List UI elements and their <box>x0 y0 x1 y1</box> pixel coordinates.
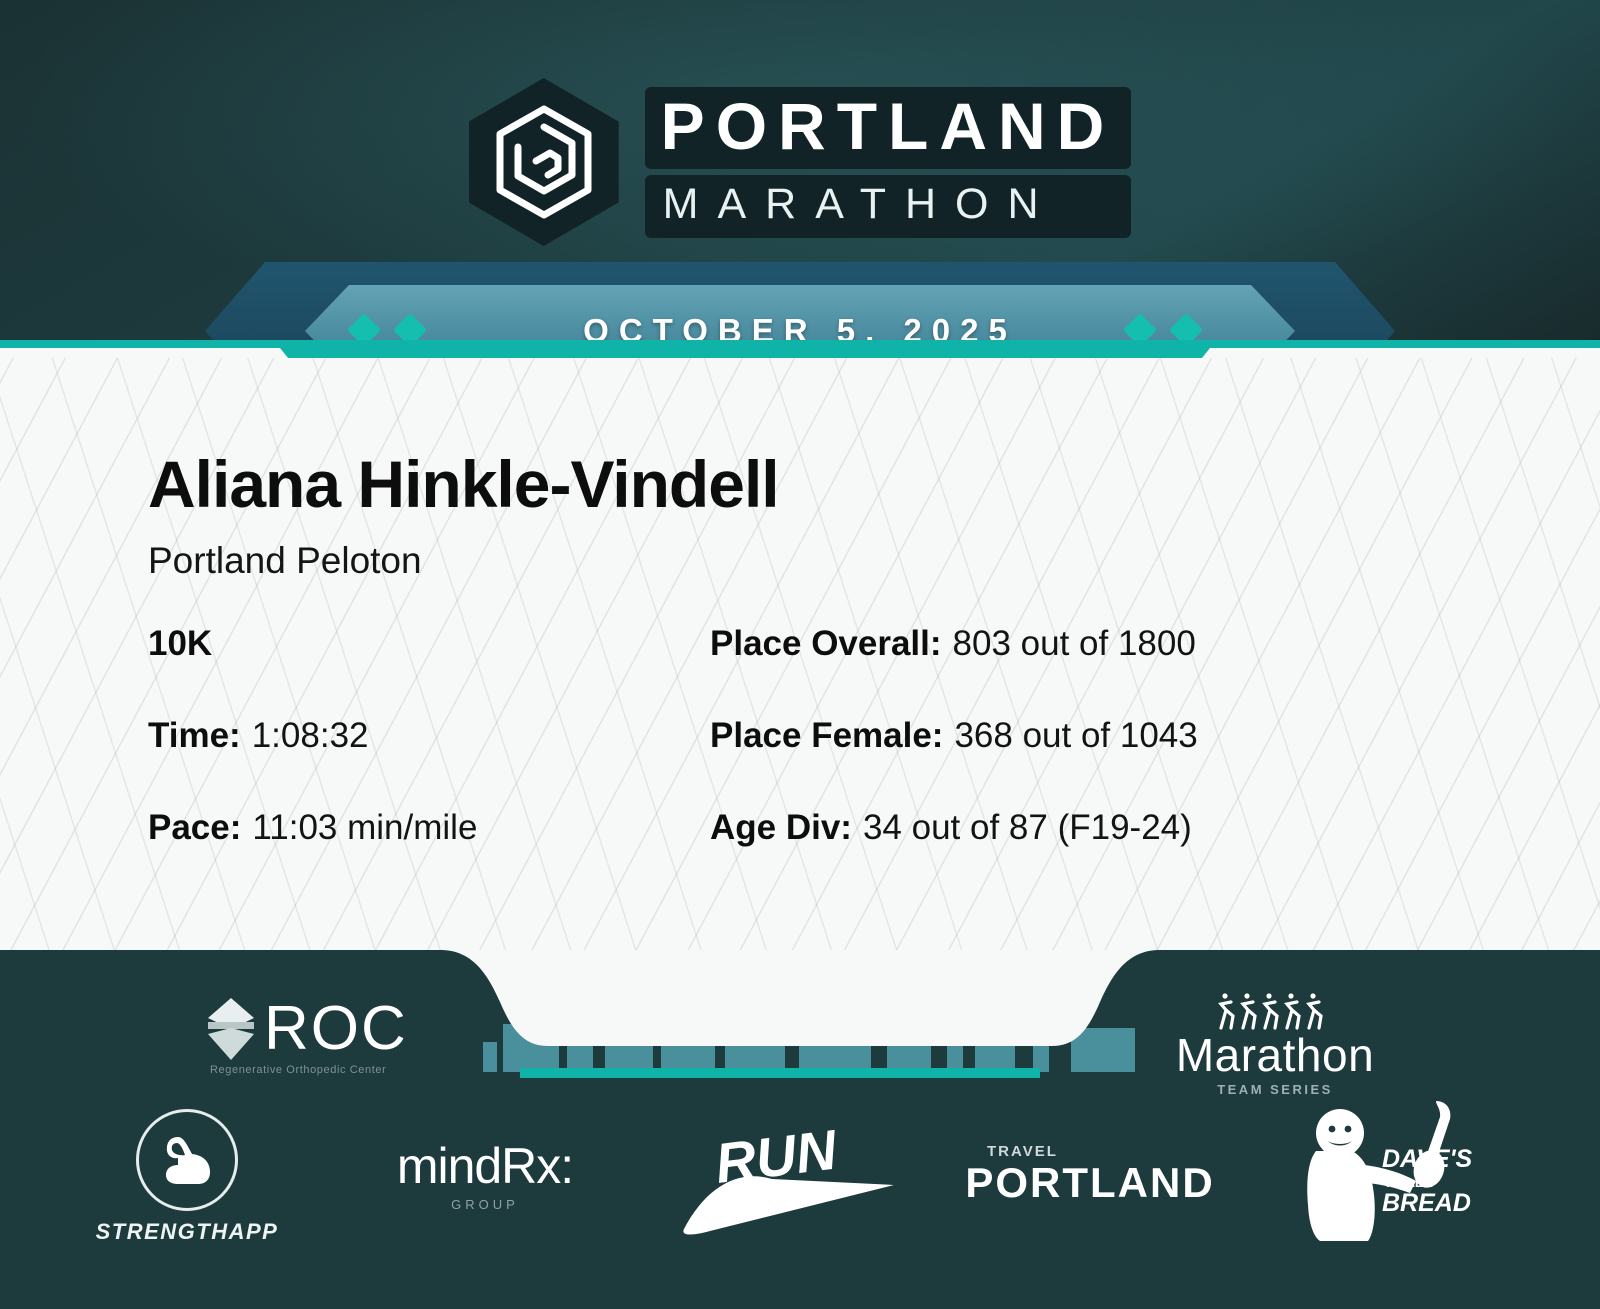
stat-label-distance: 10K <box>148 624 212 664</box>
logo-line-marathon: MARATHON <box>645 175 1132 238</box>
hexagon-spiral-icon <box>469 78 619 246</box>
stat-label-age-div: Age Div: <box>710 808 852 848</box>
stat-row: Age Div: 34 out of 87 (F19-24) <box>710 808 1450 900</box>
runner-team: Portland Peloton <box>148 540 422 582</box>
sponsor-daves-killer-bread[interactable]: DAVE'S KILLER BREAD <box>1290 1095 1490 1250</box>
sponsor-travel-name: PORTLAND <box>965 1162 1215 1204</box>
stat-row: Pace: 11:03 min/mile <box>148 808 688 900</box>
sponsor-roc-name: ROC <box>264 998 408 1060</box>
sponsor-marathon-team-series[interactable]: Marathon TEAM SERIES <box>1160 990 1390 1097</box>
guitar-man-icon: DAVE'S KILLER BREAD <box>1290 1095 1490 1245</box>
stat-value-age-div: 34 out of 87 (F19-24) <box>863 808 1192 848</box>
sponsor-mindrx-tagline: GROUP <box>360 1197 610 1212</box>
stat-row: Place Female: 368 out of 1043 <box>710 716 1450 808</box>
sponsor-mindrx[interactable]: mindRx: GROUP <box>360 1141 610 1212</box>
sponsors-row-bottom: STRENGTHAPP mindRx: GROUP RUN TRAVEL POR… <box>0 1105 1600 1255</box>
stat-row: 10K <box>148 624 688 716</box>
stat-value-place-female: 368 out of 1043 <box>954 716 1197 756</box>
stat-label-pace: Pace: <box>148 808 241 848</box>
logo-wordmark: PORTLAND MARATHON <box>645 87 1132 238</box>
stats-column-left: 10K Time: 1:08:32 Pace: 11:03 min/mile <box>148 624 688 900</box>
svg-text:DAVE'S: DAVE'S <box>1382 1145 1473 1173</box>
sponsor-strengthapp-name: STRENGTHAPP <box>92 1219 282 1245</box>
stats-column-right: Place Overall: 803 out of 1800 Place Fem… <box>710 624 1450 900</box>
stat-value-place-overall: 803 out of 1800 <box>953 624 1196 664</box>
sponsor-marathon-name: Marathon <box>1160 1032 1390 1078</box>
flexed-bicep-icon <box>136 1109 238 1211</box>
nike-swoosh-icon: RUN <box>680 1125 900 1235</box>
running-figures-icon <box>1160 990 1390 1030</box>
race-result-card: PORTLAND MARATHON OCTOBER 5, 2025 Aliana… <box>0 0 1600 1309</box>
portland-marathon-logo: PORTLAND MARATHON <box>0 78 1600 246</box>
sponsor-nike-run[interactable]: RUN <box>675 1125 905 1240</box>
stat-label-place-female: Place Female: <box>710 716 943 756</box>
banner-ornament-left <box>352 318 422 342</box>
sponsor-travel-kicker: TRAVEL <box>987 1143 1215 1160</box>
stat-label-place-overall: Place Overall: <box>710 624 942 664</box>
svg-text:KILLER: KILLER <box>1386 1175 1434 1190</box>
sponsor-roc[interactable]: ROC <box>208 998 408 1060</box>
svg-text:BREAD: BREAD <box>1382 1189 1471 1217</box>
roc-diamond-icon <box>208 998 254 1060</box>
stat-row: Place Overall: 803 out of 1800 <box>710 624 1450 716</box>
result-panel: Aliana Hinkle-Vindell Portland Peloton 1… <box>0 358 1600 958</box>
runner-name: Aliana Hinkle-Vindell <box>148 446 779 522</box>
banner-ornament-right <box>1128 318 1198 342</box>
sponsors-row-top: ROC Regenerative Orthopedic Center <box>0 990 1600 1095</box>
sponsor-strengthapp[interactable]: STRENGTHAPP <box>92 1109 282 1245</box>
stat-value-time: 1:08:32 <box>252 716 369 756</box>
stat-label-time: Time: <box>148 716 241 756</box>
card-header: PORTLAND MARATHON OCTOBER 5, 2025 <box>0 0 1600 358</box>
logo-line-portland: PORTLAND <box>645 87 1132 169</box>
stat-row: Time: 1:08:32 <box>148 716 688 808</box>
card-footer: ROC Regenerative Orthopedic Center <box>0 950 1600 1309</box>
sponsor-roc-tagline: Regenerative Orthopedic Center <box>210 1064 386 1076</box>
stat-value-pace: 11:03 min/mile <box>252 808 477 848</box>
sponsor-mindrx-name: mindRx: <box>360 1141 610 1191</box>
sponsor-travel-portland[interactable]: TRAVEL PORTLAND <box>965 1143 1215 1204</box>
